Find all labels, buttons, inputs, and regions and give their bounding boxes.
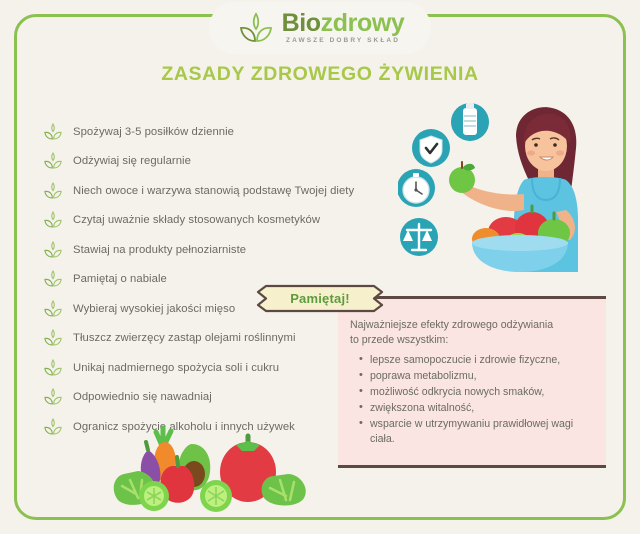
list-item-label: Odżywiaj się regularnie xyxy=(73,155,191,167)
remember-intro-text: Najważniejsze efekty zdrowego odżywiania… xyxy=(350,318,555,348)
list-item-label: Spożywaj 3-5 posiłków dziennie xyxy=(73,126,234,138)
sprout-icon xyxy=(42,328,64,348)
sprout-leaf-logo-icon xyxy=(236,8,276,48)
list-item-label: Odpowiednio się nawadniaj xyxy=(73,391,212,403)
list-item: Stawiaj na produkty pełnoziarniste xyxy=(42,235,360,265)
sprout-icon xyxy=(42,151,64,171)
remember-benefits-list: lepsze samopoczucie i zdrowie fizyczne, … xyxy=(350,353,600,447)
list-item: Czytaj uważnie składy stosowanych kosmet… xyxy=(42,206,360,236)
page-title: ZASADY ZDROWEGO ŻYWIENIA xyxy=(0,63,640,86)
list-item-label: Niech owoce i warzywa stanowią podstawę … xyxy=(73,185,354,197)
sprout-icon xyxy=(42,387,64,407)
water-bottle-icon xyxy=(451,103,489,141)
vegetable-cluster xyxy=(108,414,318,514)
remember-content: Najważniejsze efekty zdrowego odżywiania… xyxy=(350,318,600,448)
list-item-label: Pamiętaj o nabiale xyxy=(73,273,167,285)
list-item: Tłuszcz zwierzęcy zastąp olejami roślinn… xyxy=(42,324,360,354)
rules-list: Spożywaj 3-5 posiłków dziennie Odżywiaj … xyxy=(42,117,360,442)
sprout-icon xyxy=(42,240,64,260)
green-apple xyxy=(449,162,475,193)
stopwatch-icon xyxy=(398,169,435,207)
list-item-label: Wybieraj wysokiej jakości mięso xyxy=(73,303,235,315)
list-item: lepsze samopoczucie i zdrowie fizyczne, xyxy=(370,353,595,368)
list-item: poprawa metabolizmu, xyxy=(370,369,595,384)
vegetable-bowl xyxy=(472,206,570,272)
brand-tagline: ZAWSZE DOBRY SKŁAD xyxy=(286,38,400,45)
remember-banner: Pamiętaj! xyxy=(252,283,388,314)
list-item-label: Unikaj nadmiernego spożycia soli i cukru xyxy=(73,362,279,374)
brand-name-part1: Bio xyxy=(282,9,321,37)
list-item: wsparcie w utrzymywaniu prawidłowej wagi… xyxy=(370,417,595,447)
healthy-eating-illustration xyxy=(398,100,626,285)
list-item-label: Stawiaj na produkty pełnoziarniste xyxy=(73,244,246,256)
brand-wordmark: Biozdrowy ZAWSZE DOBRY SKŁAD xyxy=(282,11,405,45)
remember-banner-label: Pamiętaj! xyxy=(252,283,388,314)
list-item-label: Tłuszcz zwierzęcy zastąp olejami roślinn… xyxy=(73,332,296,344)
shield-check-icon xyxy=(412,129,450,167)
list-item: Niech owoce i warzywa stanowią podstawę … xyxy=(42,176,360,206)
sprout-icon xyxy=(42,269,64,289)
list-item: Unikaj nadmiernego spożycia soli i cukru xyxy=(42,353,360,383)
list-item: Spożywaj 3-5 posiłków dziennie xyxy=(42,117,360,147)
brand-logo: Biozdrowy ZAWSZE DOBRY SKŁAD xyxy=(209,2,431,54)
sprout-icon xyxy=(42,122,64,142)
sprout-icon xyxy=(42,417,64,437)
brand-name-part2: zdrowy xyxy=(321,9,405,37)
list-item-label: Czytaj uważnie składy stosowanych kosmet… xyxy=(73,214,320,226)
cucumber-slice xyxy=(200,480,232,512)
sprout-icon xyxy=(42,299,64,319)
cucumber-slice xyxy=(139,481,169,511)
list-item: Odżywiaj się regularnie xyxy=(42,147,360,177)
infographic-poster: Biozdrowy ZAWSZE DOBRY SKŁAD ZASADY ZDRO… xyxy=(0,0,640,534)
list-item: Odpowiednio się nawadniaj xyxy=(42,383,360,413)
list-item: zwiększona witalność, xyxy=(370,401,595,416)
sprout-icon xyxy=(42,358,64,378)
sprout-icon xyxy=(42,210,64,230)
sprout-icon xyxy=(42,181,64,201)
lettuce xyxy=(262,474,306,506)
scales-icon xyxy=(400,218,438,256)
list-item: możliwość odkrycia nowych smaków, xyxy=(370,385,595,400)
